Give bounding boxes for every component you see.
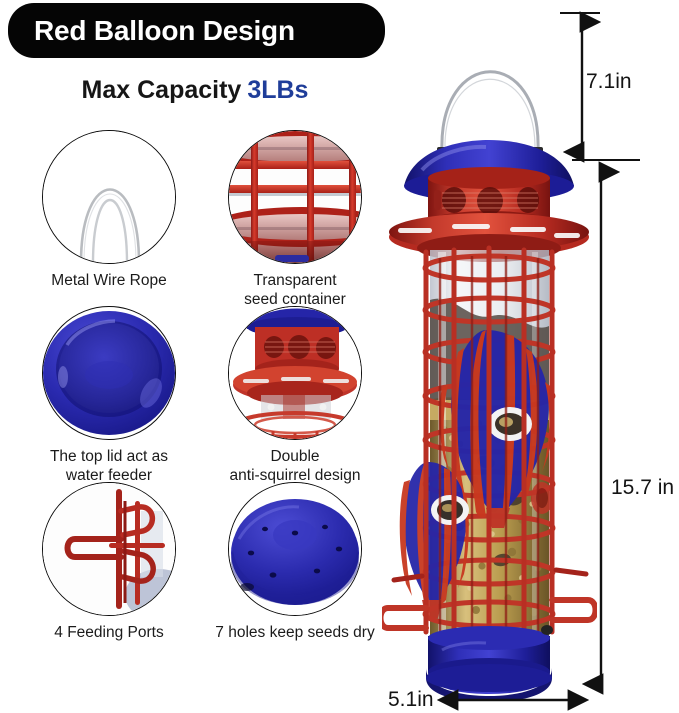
feature-circle-double-anti-squirrel [228,306,362,440]
bird-feeder-illustration [382,0,597,700]
feature-circle-metal-wire-rope [42,130,176,264]
feature-top-lid-water-feeder: The top lid act as water feeder [20,306,198,485]
blue-dish-icon [42,306,176,440]
feature-caption: 7 holes keep seeds dry [206,623,384,642]
red-perch-icon [43,483,175,615]
feature-transparent-seed-container: Transparent seed container [206,130,384,309]
feature-circle-transparent-seed-container [228,130,362,264]
feature-caption: Transparent seed container [206,271,384,309]
wire-rope-icon [43,131,175,263]
blue-dome-icon [229,483,361,615]
infographic-page: Red Balloon Design Max Capacity3LBs Meta… [0,0,679,713]
feature-caption: The top lid act as water feeder [20,447,198,485]
feature-double-anti-squirrel: Double anti-squirrel design [206,306,384,485]
feature-metal-wire-rope: Metal Wire Rope [20,130,198,290]
capacity-value: 3LBs [247,76,308,104]
page-title: Red Balloon Design [8,15,295,47]
feature-four-feeding-ports: 4 Feeding Ports [20,482,198,642]
feature-circle-top-lid-water-feeder [42,306,176,440]
feature-caption: 4 Feeding Ports [20,623,198,642]
red-cap-icon [229,307,361,439]
dimension-label-top-height: 7.1in [586,70,632,94]
capacity-label: Max Capacity [82,76,242,104]
capacity-line: Max Capacity3LBs [0,76,390,105]
feature-caption: Metal Wire Rope [20,271,198,290]
dimension-label-width: 5.1in [388,688,434,712]
product-image [382,0,597,700]
feature-circle-four-feeding-ports [42,482,176,616]
feature-seven-holes-keep-seeds-dry: 7 holes keep seeds dry [206,482,384,642]
dimension-label-total-height: 15.7 in [611,476,674,500]
feature-caption: Double anti-squirrel design [206,447,384,485]
feature-grid: Metal Wire Rope [14,130,394,690]
feature-circle-seven-holes [228,482,362,616]
title-banner: Red Balloon Design [8,3,385,58]
red-cage-icon [229,131,361,263]
